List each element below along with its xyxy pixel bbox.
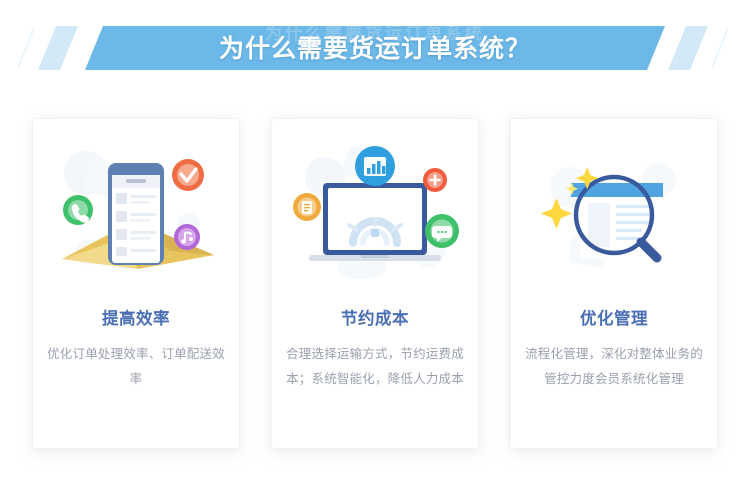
page-title: 为什么需要货运订单系统？ xyxy=(0,24,750,72)
plus-badge-icon xyxy=(423,168,447,192)
card-title-management: 优化管理 xyxy=(580,305,648,329)
feature-card-efficiency[interactable]: 提高效率 优化订单处理效率、订单配送效率 xyxy=(32,118,240,449)
card-title-cost: 节约成本 xyxy=(341,305,409,329)
phone-checklist-paperplane-illustration xyxy=(46,143,226,293)
card-desc-efficiency: 优化订单处理效率、订单配送效率 xyxy=(45,342,227,392)
chart-badge-icon xyxy=(355,146,395,186)
feature-card-management[interactable]: 优化管理 流程化管理，深化对整体业务的管控力度会员系统化管理 xyxy=(510,118,718,449)
laptop-gear-illustration xyxy=(285,143,465,293)
feature-card-cost[interactable]: 节约成本 合理选择运输方式，节约运费成本；系统智能化，降低人力成本 xyxy=(271,118,479,449)
check-badge-icon xyxy=(172,159,204,191)
chat-badge-icon xyxy=(425,214,459,248)
page-banner: 为什么需要货运订单系统 为什么需要货运订单系统？ xyxy=(0,24,750,72)
music-badge-icon xyxy=(174,224,200,250)
call-badge-icon xyxy=(63,195,93,225)
phone-icon xyxy=(108,163,164,265)
card-desc-management: 流程化管理，深化对整体业务的管控力度会员系统化管理 xyxy=(523,342,705,392)
feature-card-list: 提高效率 优化订单处理效率、订单配送效率 xyxy=(0,118,750,453)
magnifier-document-illustration xyxy=(524,143,704,293)
laptop-icon xyxy=(309,183,441,261)
document-badge-icon xyxy=(293,193,321,221)
card-desc-cost: 合理选择运输方式，节约运费成本；系统智能化，降低人力成本 xyxy=(284,342,466,392)
card-title-efficiency: 提高效率 xyxy=(102,305,170,329)
